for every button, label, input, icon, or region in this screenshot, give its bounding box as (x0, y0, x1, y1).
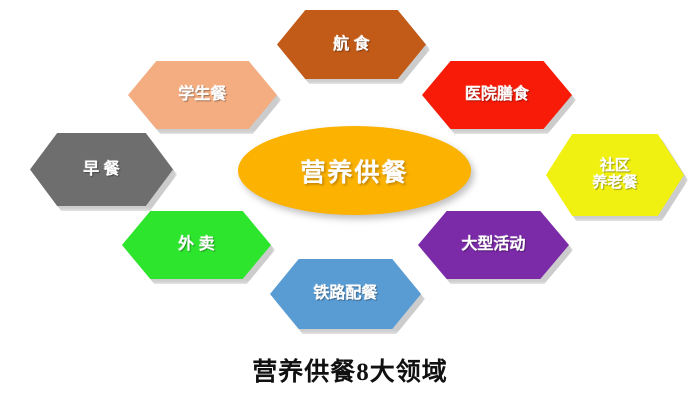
hexagon-label-railway: 铁路配餐 (313, 285, 377, 303)
hexagon-node-hospital[interactable]: 医院膳食 (422, 61, 572, 129)
hexagon-label-hospital: 医院膳食 (465, 86, 529, 104)
hexagon-label-breakfast: 早 餐 (83, 161, 119, 179)
hexagon-label-student: 学生餐 (178, 86, 226, 104)
center-ellipse-node[interactable]: 营养供餐 (238, 126, 471, 215)
hexagon-label-takeout: 外 卖 (178, 236, 214, 254)
hexagon-node-aviation[interactable]: 航 食 (277, 10, 426, 79)
hexagon-node-student[interactable]: 学生餐 (128, 61, 277, 129)
hexagon-label-elderly: 社区 养老餐 (592, 158, 637, 192)
hexagon-node-events[interactable]: 大型活动 (418, 211, 569, 279)
hexagon-node-elderly[interactable]: 社区 养老餐 (546, 134, 684, 216)
hexagon-label-aviation: 航 食 (333, 36, 369, 54)
diagram-caption: 营养供餐8大领域 (0, 352, 700, 388)
hexagon-node-takeout[interactable]: 外 卖 (122, 211, 271, 279)
hexagon-node-breakfast[interactable]: 早 餐 (30, 133, 173, 206)
center-ellipse-label: 营养供餐 (300, 153, 408, 189)
nutrition-catering-diagram: 航 食 学生餐 医院膳食 早 餐 社区 养老餐 外 卖 大型活动 铁路配餐 营养… (0, 0, 700, 400)
hexagon-label-events: 大型活动 (461, 236, 525, 254)
hexagon-node-railway[interactable]: 铁路配餐 (270, 259, 421, 329)
